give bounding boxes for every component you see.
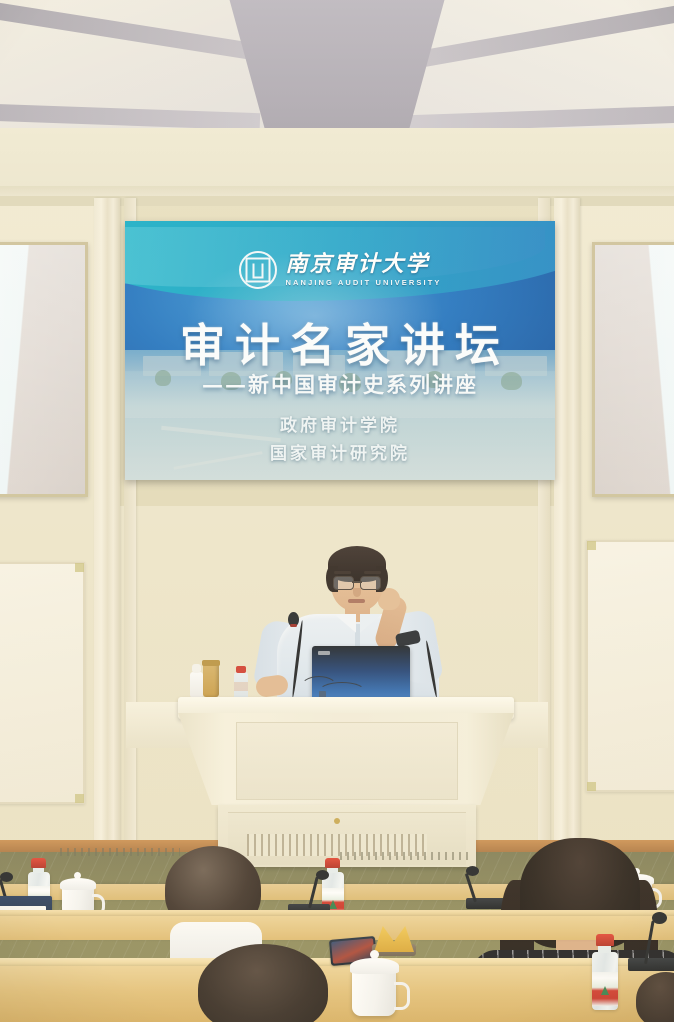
pump-dispenser-icon [190,672,203,698]
teacup-handle [394,982,410,1010]
speaker-nose [353,588,361,597]
banner-subtitle: ——新中国审计史系列讲座 [125,369,555,399]
desk-microphone-head [0,872,13,882]
banner-logo-row: 南京审计大学 NANJING AUDIT UNIVERSITY [125,251,555,289]
speaker-eyebrow-right [364,571,381,574]
university-seal-icon [239,251,277,289]
whiteboard-corner [75,794,84,803]
whiteboard-right [586,540,674,792]
teacup-knob [74,872,81,879]
screen-glow-left [0,245,85,494]
banner-university-name: 南京审计大学 NANJING AUDIT UNIVERSITY [286,253,442,287]
wall-pilaster-right-outer [554,198,580,858]
desk-microphone-head [652,912,667,924]
pump-dispenser-head [192,664,201,673]
banner-org-line-2: 国家审计研究院 [125,439,555,464]
teacup-knob [370,950,379,959]
eyeglass-bridge [352,581,362,583]
lectern-front-panel [236,722,458,800]
desk-microphone-base [628,958,674,971]
spiral-binding [60,848,180,856]
banner-title: 审计名家讲坛 [125,309,555,374]
laptop-brand-logo [318,651,330,655]
desk-microphone-head [466,866,479,876]
bottle-cap [325,858,340,868]
eyeglass-lens-left [333,576,354,590]
tea-jar-lid [202,660,220,666]
eyeglass-lens-right [360,576,381,590]
spiral-binding [340,852,470,860]
ceiling-soffit [0,128,674,188]
teacup-lid [350,958,399,974]
tea-jar-icon [203,663,219,697]
lock-knob-icon [334,818,340,824]
event-banner: 南京审计大学 NANJING AUDIT UNIVERSITY 审计名家讲坛 —… [125,221,555,480]
whiteboard-corner [587,541,596,550]
ceiling [0,0,674,200]
bottle-leaf-logo [329,900,337,909]
banner-org-line-1: 政府审计学院 [125,411,555,436]
whiteboard-left [0,562,85,804]
bottle-cap [31,858,46,868]
water-bottle-icon [592,952,618,1010]
university-name-en: NANJING AUDIT UNIVERSITY [286,278,442,287]
bottle-cap [596,934,614,946]
wall-pilaster-left-outer [94,198,120,858]
whiteboard-corner [75,563,84,572]
microphone-indicator-ring [290,624,297,627]
screen-glow-right [595,245,674,494]
speaker-eyebrow-left [334,571,351,574]
water-bottle-cap [236,666,246,673]
water-bottle-label [234,682,248,691]
speaker-mouth [348,599,365,603]
audience-desk-mid [0,916,674,940]
teacup-lid [60,878,96,890]
whiteboard-corner [587,782,596,791]
desk-microphone-head [316,870,329,880]
projection-screen-left [0,242,88,497]
audience-desk-front [0,966,674,1022]
teacup-with-lid-icon [352,968,396,1016]
lecture-hall-photo: 南京审计大学 NANJING AUDIT UNIVERSITY 审计名家讲坛 —… [0,0,674,1022]
bottle-leaf-logo [601,986,609,995]
university-name-cn: 南京审计大学 [286,253,430,276]
projection-screen-right [592,242,674,497]
